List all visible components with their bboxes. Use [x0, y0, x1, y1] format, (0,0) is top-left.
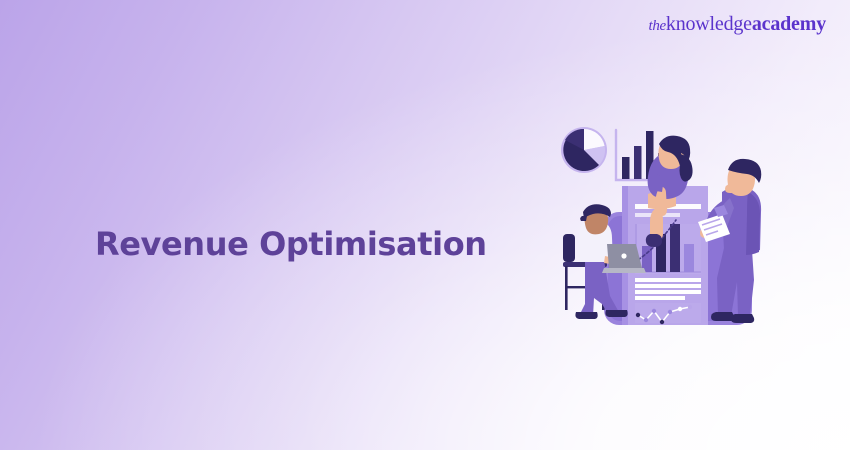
ear: [725, 184, 734, 193]
brand-logo-the: the: [648, 18, 665, 34]
page-title: Revenue Optimisation: [95, 225, 487, 263]
head: [725, 159, 761, 196]
brand-logo-academy: academy: [752, 13, 826, 35]
document-bar-chart: [635, 220, 701, 274]
banner: theknowledgeacademy Revenue Optimisation: [0, 0, 850, 450]
brand-logo-knowledge: knowledge: [666, 13, 752, 35]
document-line-chart: [635, 303, 701, 324]
brand-logo[interactable]: theknowledgeacademy: [648, 14, 826, 34]
shoe-back: [711, 312, 734, 321]
business-analytics-illustration: [552, 108, 784, 334]
shoe: [646, 234, 662, 247]
shoe-front: [731, 314, 754, 323]
ponytail: [680, 154, 693, 182]
shoe-right: [605, 310, 627, 317]
pie-chart-icon: [561, 127, 607, 173]
shoe-left: [575, 312, 597, 319]
